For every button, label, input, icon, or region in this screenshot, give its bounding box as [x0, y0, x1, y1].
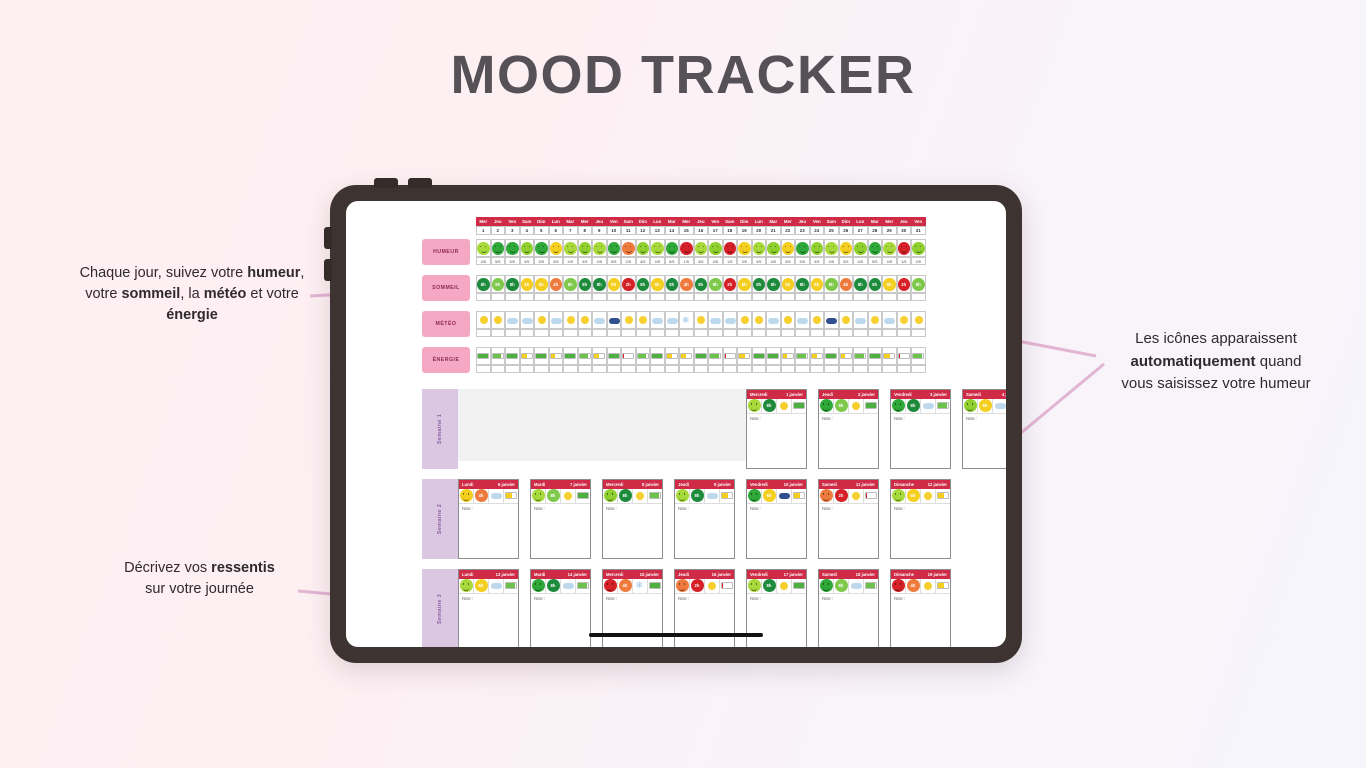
grid-cell[interactable] [636, 239, 651, 257]
weather-sun-icon [562, 489, 575, 502]
grid-cell[interactable] [882, 311, 897, 329]
day-card-note-field[interactable]: Note : [747, 504, 806, 559]
day-card-note-field[interactable]: Note : [819, 504, 878, 559]
weather-cloud-icon [854, 314, 867, 327]
grid-cell[interactable] [621, 311, 636, 329]
grid-cell[interactable] [839, 347, 854, 365]
day-card-weather-cell[interactable] [849, 489, 864, 503]
day-card-mood-cell[interactable] [963, 399, 978, 413]
day-card-weather-cell[interactable] [921, 489, 936, 503]
grid-cell[interactable] [810, 311, 825, 329]
day-card-sleep-cell[interactable]: 4h [618, 579, 633, 593]
grid-cell[interactable]: 8h [694, 275, 709, 293]
tablet-side-button-2[interactable] [324, 259, 332, 281]
grid-cell[interactable] [911, 347, 926, 365]
grid-cell[interactable] [795, 239, 810, 257]
grid-cell[interactable] [607, 311, 622, 329]
weekly-cards-section[interactable]: Semaine 1Mercredi1 janvier8hNote :Jeudi2… [422, 389, 970, 647]
tablet-top-button-1[interactable] [374, 178, 398, 188]
sleep-hours-badge: 8h [547, 579, 560, 592]
sleep-hours-badge: 4h [619, 579, 632, 592]
grid-cell[interactable] [766, 311, 781, 329]
grid-cell[interactable] [752, 239, 767, 257]
day-card-weather-cell[interactable] [777, 489, 792, 503]
day-card-energy-cell[interactable] [936, 399, 950, 413]
grid-cell[interactable] [491, 239, 506, 257]
grid-cell[interactable]: 6h [520, 275, 535, 293]
grid-cell[interactable] [491, 311, 506, 329]
energy-battery-icon [637, 353, 649, 360]
day-card-sleep-cell[interactable]: 2h [690, 579, 705, 593]
day-card-sleep-cell[interactable]: 8h [906, 399, 921, 413]
tablet-screen[interactable]: HUMEUR SOMMEIL MÉTÉO ÉNERGIE MerJeuVenSa… [346, 201, 1006, 647]
grid-cell[interactable] [650, 311, 665, 329]
monthly-row-sommeil[interactable]: 8h8h8h6h6h4h8h8h8h6h2h8h6h8h4h8h8h2h6h8h… [476, 275, 926, 293]
day-card-sleep-cell[interactable]: 8h [690, 489, 705, 503]
grid-cell[interactable] [549, 347, 564, 365]
grid-cell[interactable] [607, 239, 622, 257]
day-card-weather-cell[interactable] [561, 489, 576, 503]
grid-cell: 5/5 [868, 257, 883, 265]
day-card-note-field[interactable]: Note : [891, 594, 950, 648]
grid-cell: 12 [636, 226, 651, 235]
grid-cell[interactable] [563, 239, 578, 257]
grid-cell[interactable] [505, 239, 520, 257]
grid-cell[interactable]: 8h [824, 275, 839, 293]
day-card-note-field[interactable]: Note : [819, 414, 878, 469]
mood-face-icon [608, 242, 621, 255]
day-card-weather-cell[interactable] [633, 489, 648, 503]
day-card[interactable]: Mercredi1 janvier8hNote : [746, 389, 807, 469]
grid-cell[interactable] [476, 347, 491, 365]
day-card-dayname: Vendredi [750, 572, 768, 577]
grid-cell[interactable] [766, 347, 781, 365]
day-card-weather-cell[interactable] [849, 399, 864, 413]
grid-cell[interactable] [563, 311, 578, 329]
mood-face-icon [840, 242, 853, 255]
grid-cell[interactable] [897, 311, 912, 329]
grid-cell [636, 293, 651, 301]
grid-cell[interactable]: 2h [897, 275, 912, 293]
day-card-mood-cell[interactable] [747, 399, 762, 413]
grid-cell[interactable]: 6h [810, 275, 825, 293]
grid-cell[interactable] [766, 239, 781, 257]
day-card-header: Samedi11 janvier [819, 480, 878, 489]
grid-cell[interactable]: 8h [911, 275, 926, 293]
grid-cell[interactable] [824, 239, 839, 257]
grid-cell[interactable] [824, 311, 839, 329]
weather-sun-icon [477, 314, 490, 327]
grid-cell[interactable]: 8h [476, 275, 491, 293]
day-card-sleep-cell[interactable]: 2h [834, 489, 849, 503]
grid-cell[interactable] [723, 311, 738, 329]
day-card-dayname: Jeudi [678, 482, 689, 487]
grid-cell[interactable]: 6h [607, 275, 622, 293]
day-card[interactable]: Jeudi9 janvier8hNote : [674, 479, 735, 559]
day-card-dayname: Lundi [462, 482, 473, 487]
grid-cell[interactable] [810, 239, 825, 257]
day-card-note-field[interactable]: Note : [963, 414, 1006, 469]
day-card[interactable]: Samedi18 janvier8hNote : [818, 569, 879, 647]
grid-cell[interactable] [578, 347, 593, 365]
sleep-hours-badge: 8h [869, 278, 882, 291]
energy-battery-icon [854, 353, 866, 360]
grid-cell[interactable] [665, 239, 680, 257]
grid-cell[interactable] [824, 347, 839, 365]
day-card-weather-cell[interactable] [993, 399, 1006, 413]
grid-cell[interactable]: 8h [505, 275, 520, 293]
grid-cell[interactable] [578, 239, 593, 257]
grid-cell [563, 365, 578, 373]
grid-cell[interactable] [636, 347, 651, 365]
page-title: MOOD TRACKER [0, 44, 1366, 106]
day-card[interactable]: Samedi11 janvier2hNote : [818, 479, 879, 559]
energy-battery-icon [579, 353, 591, 360]
day-card[interactable]: Mardi7 janvier8hNote : [530, 479, 591, 559]
day-card-note-field[interactable]: Note : [459, 594, 518, 648]
tablet-top-button-2[interactable] [408, 178, 432, 188]
grid-cell [766, 329, 781, 337]
day-card-energy-cell[interactable] [504, 579, 518, 593]
grid-cell[interactable] [563, 347, 578, 365]
grid-cell[interactable] [868, 239, 883, 257]
day-card-mood-cell[interactable] [891, 579, 906, 593]
grid-cell[interactable] [621, 239, 636, 257]
grid-cell[interactable] [592, 239, 607, 257]
day-card-date: 12 janvier [928, 482, 947, 487]
grid-cell[interactable]: 8h [752, 275, 767, 293]
day-card-header: Dimanche12 janvier [891, 480, 950, 489]
day-card-weather-cell[interactable] [777, 399, 792, 413]
grid-cell[interactable]: 2h [621, 275, 636, 293]
grid-cell[interactable] [534, 347, 549, 365]
day-card-date: 13 janvier [496, 572, 515, 577]
day-card-energy-cell[interactable] [648, 579, 662, 593]
week-tab-label: Semaine 1 [422, 389, 458, 469]
grid-cell[interactable]: 8h [708, 275, 723, 293]
day-card-icons: 8h [531, 579, 590, 594]
grid-cell[interactable] [911, 311, 926, 329]
monthly-row-humeur[interactable] [476, 239, 926, 257]
grid-cell[interactable] [781, 311, 796, 329]
grid-cell [476, 329, 491, 337]
grid-cell[interactable]: 8h [592, 275, 607, 293]
day-card-energy-cell[interactable] [792, 489, 806, 503]
day-card-energy-cell[interactable] [720, 489, 734, 503]
day-card-sleep-cell[interactable]: 8h [834, 579, 849, 593]
grid-cell[interactable] [491, 347, 506, 365]
grid-cell[interactable] [795, 311, 810, 329]
day-card-date: 10 janvier [784, 482, 803, 487]
mood-face-icon [676, 579, 689, 592]
day-card-mood-cell[interactable] [675, 489, 690, 503]
grid-cell[interactable] [621, 347, 636, 365]
grid-cell[interactable] [781, 347, 796, 365]
grid-cell[interactable]: 4h [679, 275, 694, 293]
grid-cell [752, 329, 767, 337]
energy-battery-icon [738, 353, 750, 360]
day-card-sleep-cell[interactable]: 4h [474, 489, 489, 503]
energy-battery-icon [505, 582, 517, 589]
day-card-mood-cell[interactable] [891, 399, 906, 413]
day-card-note-field[interactable]: Note : [891, 414, 950, 469]
grid-cell[interactable] [781, 239, 796, 257]
day-card-dayname: Mardi [534, 572, 545, 577]
grid-cell[interactable] [578, 311, 593, 329]
grid-cell[interactable] [882, 347, 897, 365]
grid-cell[interactable] [708, 347, 723, 365]
grid-cell[interactable] [679, 347, 694, 365]
day-card-sleep-cell[interactable]: 8h [546, 489, 561, 503]
day-card-note-field[interactable]: Note : [675, 594, 734, 648]
day-card-energy-cell[interactable] [936, 579, 950, 593]
day-card-energy-cell[interactable] [864, 489, 878, 503]
weather-cloud-icon [562, 579, 575, 592]
day-card[interactable]: Samedi4 janvier6hNote : [962, 389, 1006, 469]
grid-cell[interactable] [853, 311, 868, 329]
grid-cell[interactable] [520, 347, 535, 365]
energy-battery-icon [793, 492, 805, 499]
day-card-note-field[interactable]: Note : [531, 594, 590, 648]
day-card-mood-cell[interactable] [603, 579, 618, 593]
grid-cell[interactable] [853, 347, 868, 365]
grid-cell[interactable] [520, 311, 535, 329]
grid-cell[interactable]: 8h [795, 275, 810, 293]
day-card-energy-cell[interactable] [864, 399, 878, 413]
weather-snow-icon: ❄ [680, 314, 693, 327]
day-card-sleep-cell[interactable]: 8h [618, 489, 633, 503]
grid-cell[interactable]: 8h [853, 275, 868, 293]
day-card-mood-cell[interactable] [747, 579, 762, 593]
mood-face-icon [869, 242, 882, 255]
day-card-weather-cell[interactable] [705, 489, 720, 503]
day-card-sleep-cell[interactable]: 6h [978, 399, 993, 413]
day-card-sleep-cell[interactable]: 4h [906, 579, 921, 593]
grid-cell[interactable]: 6h [534, 275, 549, 293]
grid-cell: Dim [636, 217, 651, 226]
day-card[interactable]: Mercredi8 janvier8hNote : [602, 479, 663, 559]
day-card-energy-cell[interactable] [504, 489, 518, 503]
day-card-mood-cell[interactable] [819, 399, 834, 413]
day-card-note-field[interactable]: Note : [891, 504, 950, 559]
monthly-row-meteo[interactable]: ❄ [476, 311, 926, 329]
grid-cell [911, 293, 926, 301]
grid-cell[interactable] [592, 347, 607, 365]
grid-cell[interactable] [868, 311, 883, 329]
day-card-weather-cell[interactable] [489, 489, 504, 503]
energy-battery-icon [577, 492, 589, 499]
grid-cell[interactable]: 8h [766, 275, 781, 293]
day-card-note-field[interactable]: Note : [603, 594, 662, 648]
grid-cell[interactable] [665, 311, 680, 329]
day-card[interactable]: Lundi6 janvier4hNote : [458, 479, 519, 559]
grid-cell[interactable] [694, 347, 709, 365]
grid-cell[interactable]: 2h [723, 275, 738, 293]
day-card-mood-cell[interactable] [819, 579, 834, 593]
grid-cell[interactable] [505, 347, 520, 365]
day-card[interactable]: Mardi14 janvier8hNote : [530, 569, 591, 647]
grid-cell[interactable] [897, 239, 912, 257]
grid-cell[interactable] [752, 347, 767, 365]
grid-cell[interactable]: 6h [650, 275, 665, 293]
day-card-energy-cell[interactable] [576, 579, 590, 593]
grid-cell[interactable] [476, 239, 491, 257]
grid-cell [491, 329, 506, 337]
grid-cell[interactable] [679, 239, 694, 257]
grid-cell [853, 293, 868, 301]
day-card-date: 11 janvier [856, 482, 875, 487]
day-card-energy-cell[interactable] [576, 489, 590, 503]
day-card-mood-cell[interactable] [819, 489, 834, 503]
sleep-hours-badge: 2h [691, 579, 704, 592]
day-card-weather-cell[interactable] [921, 399, 936, 413]
grid-cell[interactable] [897, 347, 912, 365]
day-card-energy-cell[interactable] [864, 579, 878, 593]
grid-cell[interactable] [694, 239, 709, 257]
grid-cell[interactable]: 6h [737, 275, 752, 293]
grid-cell [665, 365, 680, 373]
grid-cell[interactable] [549, 311, 564, 329]
grid-cell: 25 [824, 226, 839, 235]
grid-cell[interactable] [607, 347, 622, 365]
grid-cell[interactable] [839, 311, 854, 329]
day-card-mood-cell[interactable] [531, 579, 546, 593]
day-card-weather-cell[interactable] [777, 579, 792, 593]
grid-cell[interactable] [708, 311, 723, 329]
grid-cell[interactable]: 8h [636, 275, 651, 293]
day-card-weather-cell[interactable] [921, 579, 936, 593]
grid-cell[interactable]: 8h [578, 275, 593, 293]
sleep-hours-badge: 6h [475, 579, 488, 592]
grid-cell [853, 329, 868, 337]
day-card-mood-cell[interactable] [747, 489, 762, 503]
day-card-note-field[interactable]: Note : [747, 594, 806, 648]
day-card-icons: 8h [603, 489, 662, 504]
day-card-mood-cell[interactable] [675, 579, 690, 593]
grid-cell[interactable] [737, 347, 752, 365]
day-card-energy-cell[interactable] [792, 579, 806, 593]
sleep-hours-badge: 8h [492, 278, 505, 291]
day-card-energy-cell[interactable] [936, 489, 950, 503]
day-card-sleep-cell[interactable]: 6h [474, 579, 489, 593]
day-card-note-field[interactable]: Note : [819, 594, 878, 648]
tablet-side-button-1[interactable] [324, 227, 332, 249]
grid-cell[interactable]: 6h [781, 275, 796, 293]
grid-cell[interactable] [723, 239, 738, 257]
day-card-sleep-cell[interactable]: 8h [762, 399, 777, 413]
grid-cell[interactable]: 8h [665, 275, 680, 293]
grid-cell[interactable] [476, 311, 491, 329]
day-card[interactable]: Dimanche12 janvier6hNote : [890, 479, 951, 559]
grid-cell[interactable]: 4h [549, 275, 564, 293]
grid-cell[interactable] [810, 347, 825, 365]
day-card-date: 6 janvier [498, 482, 515, 487]
grid-cell[interactable]: ❄ [679, 311, 694, 329]
day-card-energy-cell[interactable] [792, 399, 806, 413]
day-card-sleep-cell[interactable]: 8h [762, 579, 777, 593]
day-card-sleep-cell[interactable]: 6h [762, 489, 777, 503]
mood-face-icon [820, 489, 833, 502]
grid-cell[interactable]: 8h [868, 275, 883, 293]
grid-cell[interactable] [752, 311, 767, 329]
grid-cell[interactable] [853, 239, 868, 257]
day-card-mood-cell[interactable] [891, 489, 906, 503]
grid-cell[interactable]: 8h [491, 275, 506, 293]
day-card-note-field[interactable]: Note : [531, 504, 590, 559]
grid-cell[interactable] [737, 311, 752, 329]
monthly-row-energie[interactable] [476, 347, 926, 365]
grid-cell[interactable] [795, 347, 810, 365]
day-card[interactable]: Vendredi3 janvier8hNote : [890, 389, 951, 469]
day-card[interactable]: Jeudi2 janvier8hNote : [818, 389, 879, 469]
day-card-note-field[interactable]: Note : [675, 504, 734, 559]
day-card[interactable]: Lundi13 janvier6hNote : [458, 569, 519, 647]
day-card-weather-cell[interactable] [561, 579, 576, 593]
grid-cell[interactable]: 6h [882, 275, 897, 293]
day-card-weather-cell[interactable] [849, 579, 864, 593]
energy-battery-icon [898, 353, 910, 360]
day-card-sleep-cell[interactable]: 6h [906, 489, 921, 503]
grid-cell[interactable] [534, 311, 549, 329]
day-card-note-field[interactable]: Note : [747, 414, 806, 469]
grid-cell[interactable] [650, 239, 665, 257]
grid-cell[interactable] [737, 239, 752, 257]
grid-cell: Dim [839, 217, 854, 226]
grid-cell[interactable] [839, 239, 854, 257]
grid-cell[interactable] [694, 311, 709, 329]
grid-cell[interactable]: 8h [563, 275, 578, 293]
day-card-icons: 4h❄ [603, 579, 662, 594]
day-card-energy-cell[interactable] [648, 489, 662, 503]
grid-cell[interactable] [708, 239, 723, 257]
weather-cloud-icon [490, 579, 503, 592]
grid-cell[interactable]: 4h [839, 275, 854, 293]
grid-cell[interactable] [549, 239, 564, 257]
day-card-weather-cell[interactable] [705, 579, 720, 593]
day-card-mood-cell[interactable] [603, 489, 618, 503]
grid-cell: 4/5 [824, 257, 839, 265]
grid-cell[interactable] [911, 239, 926, 257]
grid-cell[interactable] [592, 311, 607, 329]
day-card-energy-cell[interactable] [720, 579, 734, 593]
day-card-mood-cell[interactable] [459, 489, 474, 503]
grid-cell[interactable] [665, 347, 680, 365]
grid-cell[interactable] [505, 311, 520, 329]
energy-battery-icon [721, 492, 733, 499]
grid-cell[interactable] [868, 347, 883, 365]
grid-cell[interactable] [520, 239, 535, 257]
day-card-weather-cell[interactable] [489, 579, 504, 593]
grid-cell [592, 329, 607, 337]
day-card-header: Jeudi9 janvier [675, 480, 734, 489]
day-card[interactable]: Dimanche19 janvier4hNote : [890, 569, 951, 647]
grid-cell[interactable] [882, 239, 897, 257]
grid-cell [549, 365, 564, 373]
day-card-mood-cell[interactable] [459, 579, 474, 593]
grid-cell [795, 329, 810, 337]
grid-cell[interactable] [723, 347, 738, 365]
grid-cell[interactable] [534, 239, 549, 257]
day-card-mood-cell[interactable] [531, 489, 546, 503]
day-card-sleep-cell[interactable]: 8h [834, 399, 849, 413]
day-card[interactable]: Vendredi10 janvier6hNote : [746, 479, 807, 559]
day-card-weather-cell[interactable]: ❄ [633, 579, 648, 593]
day-card-note-field[interactable]: Note : [603, 504, 662, 559]
grid-cell[interactable] [650, 347, 665, 365]
day-card-note-field[interactable]: Note : [459, 504, 518, 559]
grid-cell[interactable] [636, 311, 651, 329]
day-card-sleep-cell[interactable]: 8h [546, 579, 561, 593]
